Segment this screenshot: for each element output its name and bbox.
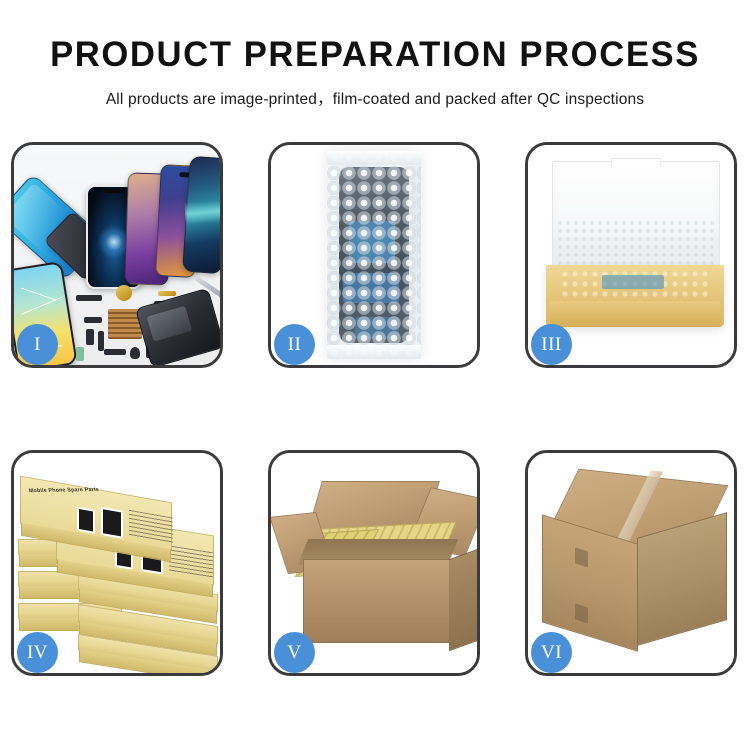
bubble-wrap-bag	[327, 151, 421, 359]
retail-box-1: Mobile Phone Spare Parts	[20, 476, 172, 551]
page-subtitle: All products are image-printed，film-coat…	[0, 87, 750, 109]
packed-screens	[560, 269, 712, 299]
bag-seal-top	[327, 151, 421, 165]
step-panel-2[interactable]: II	[268, 142, 480, 368]
step-panel-1[interactable]: I	[11, 142, 223, 368]
step-badge-5: V	[274, 632, 315, 673]
page-title: PRODUCT PREPARATION PROCESS	[4, 37, 747, 72]
tray-front-panel	[550, 301, 720, 327]
open-mailer-box	[546, 161, 724, 343]
step-badge-6: VI	[531, 632, 572, 673]
bubble-texture	[327, 151, 421, 359]
foam-liner	[556, 219, 716, 271]
process-step-grid: I II	[11, 142, 741, 676]
notch	[104, 189, 124, 193]
carton-handle-notch-bottom	[575, 603, 588, 623]
retail-box-label-1: Mobile Phone Spare Parts	[28, 487, 99, 494]
step-panel-4[interactable]: Mobile Phone Spare Parts Mobile Phone Sp…	[11, 450, 223, 676]
mailer-tray	[546, 265, 724, 327]
open-shipping-carton	[281, 487, 477, 653]
step-badge-2: II	[274, 324, 315, 365]
step-panel-6[interactable]: VI	[525, 450, 737, 676]
step-panel-5[interactable]: V	[268, 450, 480, 676]
step-panel-3[interactable]: III	[525, 142, 737, 368]
step-badge-3: III	[531, 324, 572, 365]
header: PRODUCT PREPARATION PROCESS All products…	[0, 0, 750, 109]
carton-body	[303, 559, 453, 643]
bag-seal-bottom	[327, 345, 421, 359]
step-badge-4: IV	[17, 632, 58, 673]
sealed-shipping-carton	[542, 477, 728, 649]
step-badge-1: I	[17, 324, 58, 365]
product-preparation-infographic: PRODUCT PREPARATION PROCESS All products…	[0, 0, 750, 750]
carton-handle-notch-top	[575, 547, 588, 567]
